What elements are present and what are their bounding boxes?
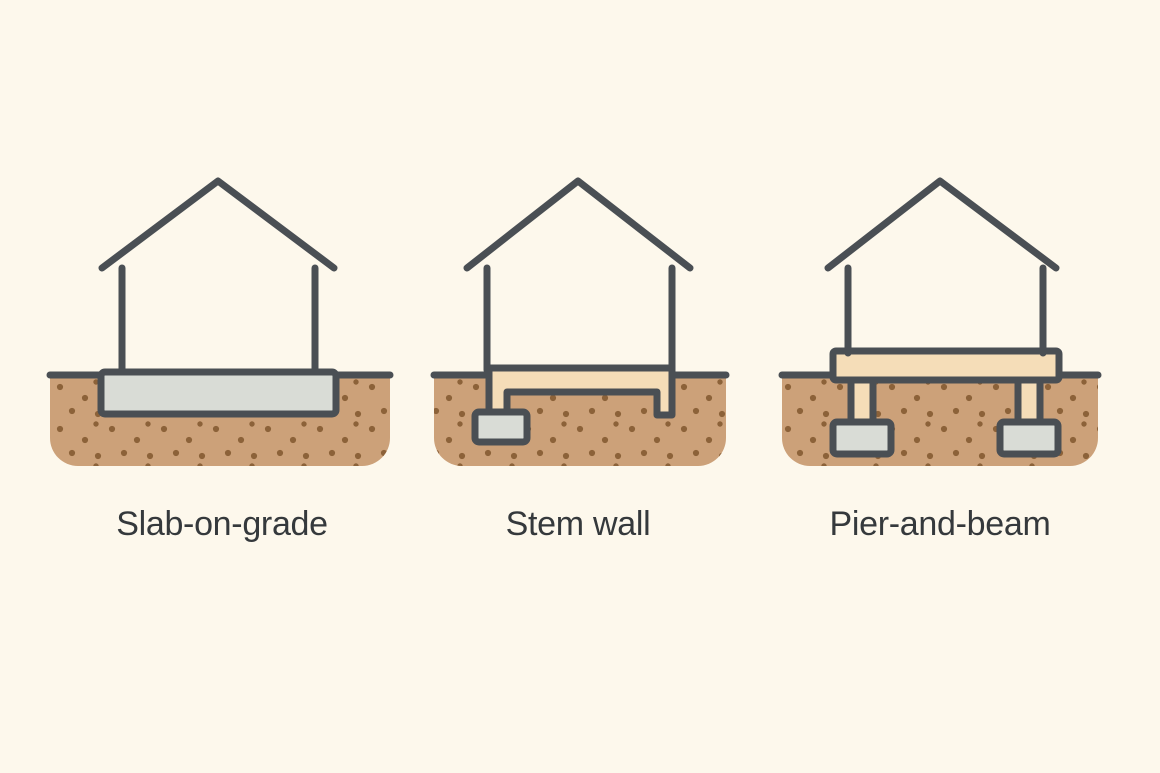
diagram-canvas: Slab-on-grade (0, 0, 1160, 773)
figure-label-slab-on-grade: Slab-on-grade (116, 505, 328, 543)
beam (833, 351, 1059, 380)
stem-wall-footing (475, 412, 527, 442)
figure-label-pier-and-beam: Pier-and-beam (830, 505, 1051, 543)
footing-left (833, 422, 891, 454)
figure-label-stem-wall: Stem wall (506, 505, 651, 543)
concrete-slab (101, 372, 336, 414)
footing-right (1000, 422, 1058, 454)
foundation-types-diagram: Slab-on-grade (0, 0, 1160, 773)
